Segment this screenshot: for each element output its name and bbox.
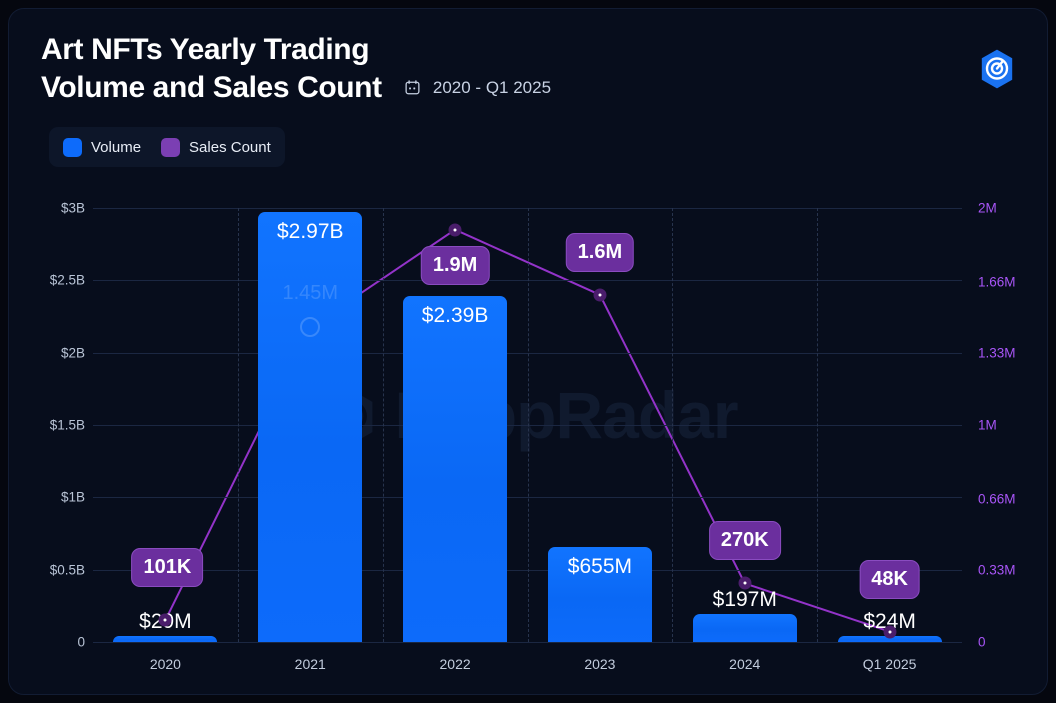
y-axis-tick-right: 2M [978, 201, 997, 216]
legend-label-sales-count: Sales Count [189, 139, 271, 156]
date-range-text: 2020 - Q1 2025 [433, 78, 551, 97]
gridline [93, 642, 962, 643]
bar-value-label: $2.97B [277, 220, 344, 244]
bar-value-label: $655M [568, 555, 632, 579]
x-axis-label-2021: 2021 [295, 656, 326, 672]
data-point-label: 101K [132, 548, 204, 587]
plot-area: 00$0.5B0.33M$1B0.66M$1.5B1M$2B1.33M$2.5B… [93, 208, 962, 642]
y-axis-tick-left: $1.5B [31, 418, 85, 433]
legend-item-volume[interactable]: Volume [63, 138, 141, 157]
data-point-2020[interactable] [159, 614, 172, 627]
category-divider [238, 208, 239, 642]
data-point-label: 1.6M [566, 233, 634, 272]
chart-card: Art NFTs Yearly Trading Volume and Sales… [8, 8, 1048, 695]
category-divider [672, 208, 673, 642]
y-axis-tick-left: $1B [31, 490, 85, 505]
dappradar-logo-icon [975, 47, 1019, 91]
category-divider [528, 208, 529, 642]
page-title-line1: Art NFTs Yearly Trading [41, 33, 369, 66]
y-axis-tick-right: 0.66M [978, 491, 1016, 506]
y-axis-tick-right: 1.33M [978, 346, 1016, 361]
y-axis-tick-right: 0 [978, 635, 986, 650]
data-point-2023[interactable] [593, 288, 606, 301]
y-axis-tick-left: $2.5B [31, 273, 85, 288]
x-axis-label-2024: 2024 [729, 656, 760, 672]
bar-2024[interactable] [693, 614, 797, 642]
bar-value-label: $197M [713, 588, 777, 612]
data-point-2024[interactable] [738, 577, 751, 590]
y-axis-tick-right: 1M [978, 418, 997, 433]
x-axis-label-2020: 2020 [150, 656, 181, 672]
volume-swatch [63, 138, 82, 157]
chart-header: Art NFTs Yearly Trading Volume and Sales… [41, 31, 921, 107]
data-point-label: 48K [859, 560, 920, 599]
data-point-label: 1.45M [271, 275, 349, 312]
bar-2022[interactable] [403, 296, 507, 642]
calendar-icon [404, 79, 421, 101]
y-axis-tick-left: $0.5B [31, 562, 85, 577]
y-axis-tick-left: $2B [31, 345, 85, 360]
y-axis-tick-left: $3B [31, 201, 85, 216]
page-title-line2: Volume and Sales Count [41, 71, 382, 104]
data-point-label: 270K [709, 521, 781, 560]
sales-count-swatch [161, 138, 180, 157]
y-axis-tick-right: 0.33M [978, 563, 1016, 578]
data-point-q1-2025[interactable] [883, 625, 896, 638]
legend-item-sales-count[interactable]: Sales Count [161, 138, 271, 157]
x-axis-label-q1-2025: Q1 2025 [863, 656, 917, 672]
y-axis-tick-right: 1.66M [978, 274, 1016, 289]
page-title: Art NFTs Yearly Trading Volume and Sales… [41, 31, 382, 107]
data-point-2021[interactable] [300, 317, 320, 337]
x-axis-label-2023: 2023 [584, 656, 615, 672]
x-axis-label-2022: 2022 [440, 656, 471, 672]
legend-label-volume: Volume [91, 139, 141, 156]
data-point-2022[interactable] [449, 223, 462, 236]
date-range: 2020 - Q1 2025 [404, 78, 551, 107]
bar-value-label: $2.39B [422, 304, 489, 328]
data-point-label: 1.9M [421, 246, 489, 285]
chart-legend: Volume Sales Count [49, 127, 285, 167]
y-axis-tick-left: 0 [31, 635, 85, 650]
bar-2020[interactable] [113, 636, 217, 642]
category-divider [817, 208, 818, 642]
category-divider [383, 208, 384, 642]
